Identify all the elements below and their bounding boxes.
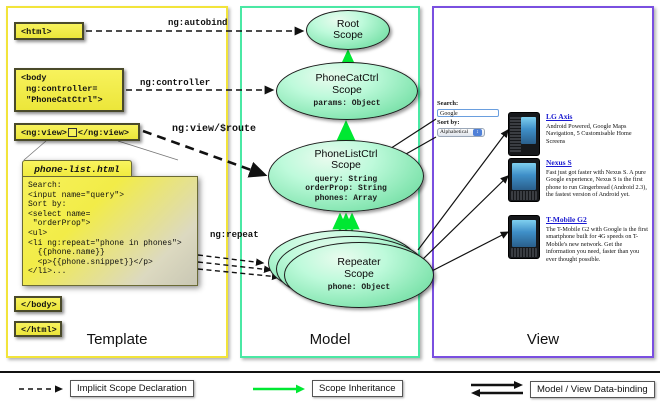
sort-select-value: Alphabetical — [440, 128, 468, 137]
label-ng-controller: ng:controller — [140, 78, 210, 88]
diagram-canvas: ng:autobind ng:controller ng:view/$route… — [0, 0, 660, 405]
phone-title-link[interactable]: T-Mobile G2 — [546, 215, 650, 224]
double-arrow-icon — [470, 380, 524, 398]
legend-item-implicit-scope: Implicit Scope Declaration — [18, 380, 194, 397]
scope-phonecatctrl: PhoneCatCtrlScope params: Object — [276, 62, 418, 120]
scope-phonelistctrl: PhoneListCtrlScope query: StringorderPro… — [268, 140, 424, 212]
panel-label-model: Model — [240, 331, 420, 348]
scope-phonecatctrl-name: PhoneCatCtrlScope — [315, 73, 378, 96]
code-box-html-open: <html> — [14, 22, 84, 40]
phone-list-note-code: Search: <input name="query"> Sort by: <s… — [22, 176, 198, 286]
label-ng-repeat: ng:repeat — [210, 230, 259, 240]
legend-item-data-binding: Model / View Data-binding — [470, 380, 655, 398]
dashed-arrow-icon — [18, 383, 64, 395]
scope-repeater-props: phone: Object — [328, 283, 390, 293]
phone-list-note: phone-list.html Search: <input name="que… — [22, 160, 198, 286]
legend-item-scope-inheritance: Scope Inheritance — [252, 380, 403, 397]
panel-label-view: View — [432, 331, 654, 348]
sort-label: Sort by: — [437, 119, 509, 127]
legend-label: Implicit Scope Declaration — [70, 380, 194, 397]
ng-view-slot-icon — [68, 128, 77, 137]
code-box-ng-view: <ng:view></ng:view> — [14, 123, 140, 141]
scope-phonecatctrl-props: params: Object — [313, 99, 380, 109]
ng-view-open-tag: <ng:view> — [21, 128, 67, 138]
scope-phonelistctrl-name: PhoneListCtrlScope — [314, 149, 377, 172]
label-ng-view-route: ng:view/$route — [172, 124, 256, 135]
phone-title-link[interactable]: Nexus S — [546, 158, 650, 167]
chevron-down-icon: ↕ — [473, 129, 482, 136]
legend: Implicit Scope Declaration Scope Inherit… — [0, 378, 660, 402]
ng-view-close-tag: </ng:view> — [78, 128, 129, 138]
phone-snippet: The T-Mobile G2 with Google is the first… — [546, 226, 650, 263]
phone-image-icon — [508, 112, 540, 156]
search-input[interactable]: Google — [437, 109, 499, 117]
phone-text: LG Axis Android Powered, Google Maps Nav… — [546, 112, 650, 156]
sort-select[interactable]: Alphabetical ↕ — [437, 128, 485, 137]
legend-divider — [0, 371, 660, 373]
legend-label: Model / View Data-binding — [530, 381, 655, 398]
scope-root: RootScope — [306, 10, 390, 50]
phone-snippet: Fast just got faster with Nexus S. A pur… — [546, 169, 650, 199]
label-ng-autobind: ng:autobind — [168, 18, 227, 28]
code-box-body-close: </body> — [14, 296, 62, 312]
scope-root-name: RootScope — [333, 19, 363, 42]
legend-label: Scope Inheritance — [312, 380, 403, 397]
scope-repeater: RepeaterScope phone: Object — [284, 242, 434, 308]
view-search-form: Search: Google Sort by: Alphabetical ↕ — [437, 100, 509, 137]
phone-list-item[interactable]: T-Mobile G2 The T-Mobile G2 with Google … — [508, 215, 650, 263]
phone-snippet: Android Powered, Google Maps Navigation,… — [546, 123, 650, 145]
scope-repeater-name: RepeaterScope — [337, 257, 380, 280]
phone-text: Nexus S Fast just got faster with Nexus … — [546, 158, 650, 202]
scope-phonelistctrl-props: query: StringorderProp: Stringphones: Ar… — [305, 175, 387, 204]
search-label: Search: — [437, 100, 509, 108]
panel-label-template: Template — [6, 331, 228, 348]
phone-list-item[interactable]: LG Axis Android Powered, Google Maps Nav… — [508, 112, 650, 156]
phone-title-link[interactable]: LG Axis — [546, 112, 650, 121]
phone-list-item[interactable]: Nexus S Fast just got faster with Nexus … — [508, 158, 650, 202]
phone-image-icon — [508, 215, 540, 259]
phone-image-icon — [508, 158, 540, 202]
phone-text: T-Mobile G2 The T-Mobile G2 with Google … — [546, 215, 650, 263]
code-box-body-open: <body ng:controller= "PhoneCatCtrl"> — [14, 68, 124, 112]
green-arrow-icon — [252, 383, 306, 395]
